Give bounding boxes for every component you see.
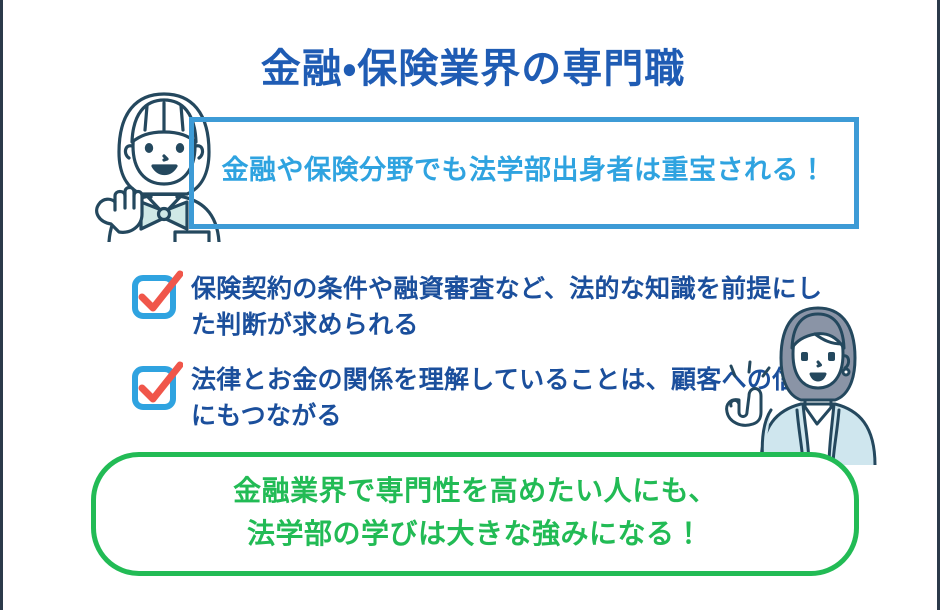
- slide-canvas: 金融・保険業界の専門職: [0, 0, 940, 610]
- checkbox-checked-icon: [131, 270, 183, 320]
- callout-text: 金融や保険分野でも法学部出身者は重宝される！: [189, 154, 859, 188]
- conclusion-text: 金融業界で専門性を高めたい人にも、 法学部の学びは大きな強みになる！: [91, 470, 859, 555]
- conclusion-line-1: 金融業界で専門性を高めたい人にも、: [91, 470, 859, 513]
- conclusion-line-2: 法学部の学びは大きな強みになる！: [91, 513, 859, 556]
- businesswoman-pointing-illustration: [719, 300, 891, 465]
- checkbox-checked-icon: [131, 361, 183, 411]
